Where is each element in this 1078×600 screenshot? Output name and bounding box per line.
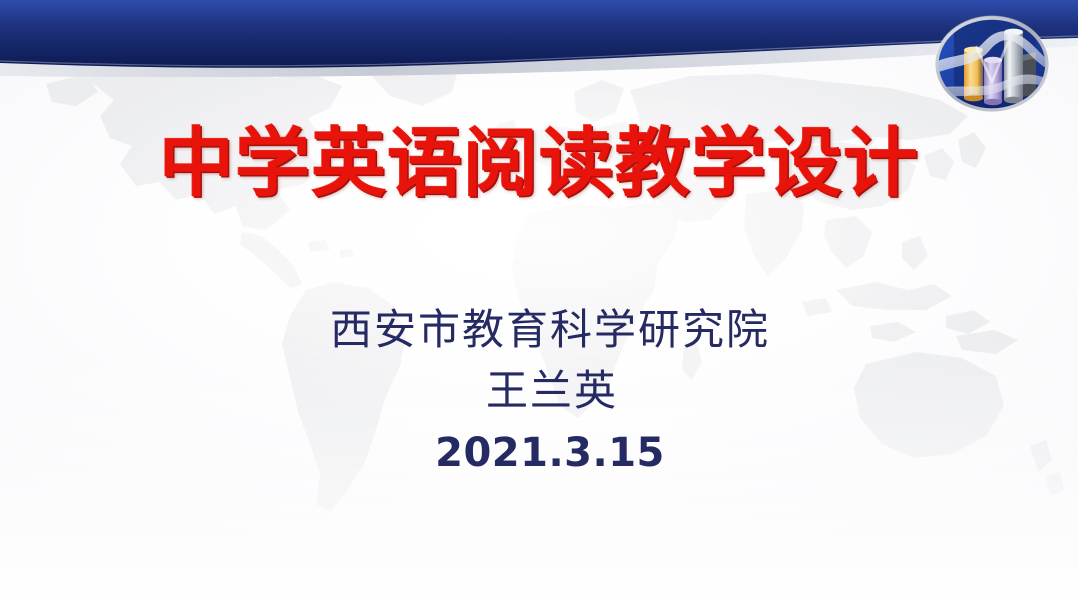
byline-block: 西安市教育科学研究院 王兰英 2021.3.15 (0, 300, 1078, 478)
bar-chart-oval-logo (932, 12, 1052, 116)
organization-name: 西安市教育科学研究院 (0, 300, 1078, 360)
presentation-slide: 中学英语阅读教学设计 西安市教育科学研究院 王兰英 2021.3.15 (0, 0, 1078, 600)
presentation-date: 2021.3.15 (0, 428, 1078, 478)
slide-title: 中学英语阅读教学设计 (0, 120, 1078, 206)
presenter-name: 王兰英 (0, 360, 1078, 422)
